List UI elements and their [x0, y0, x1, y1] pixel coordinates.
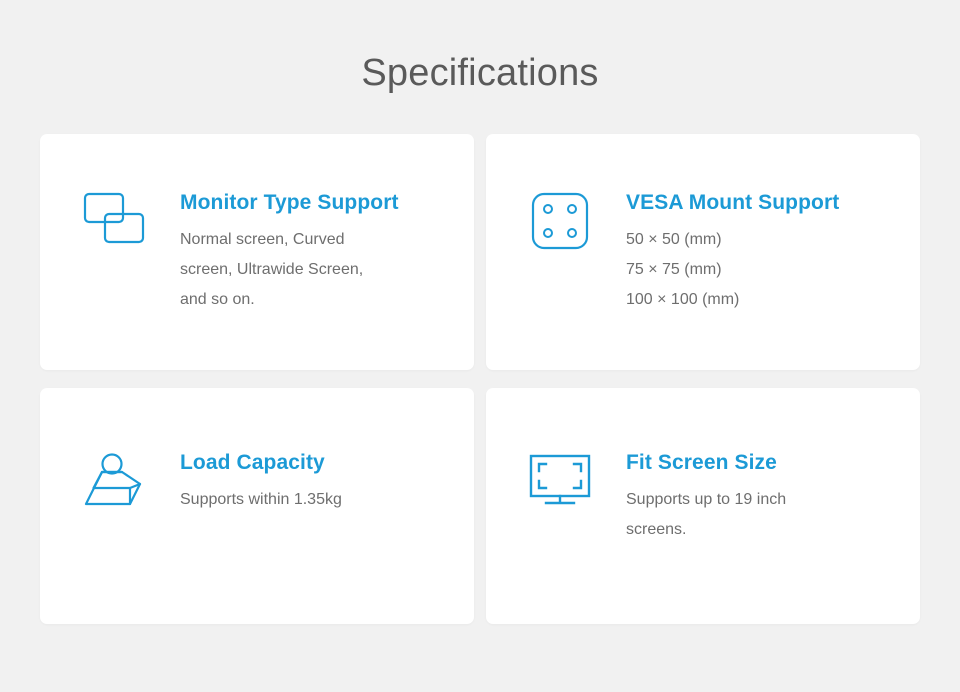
card-description: Normal screen, Curved screen, Ultrawide … — [180, 225, 450, 315]
card-body: Load Capacity Supports within 1.35kg — [180, 450, 450, 515]
card-heading: Load Capacity — [180, 450, 450, 476]
description-line: screen, Ultrawide Screen, — [180, 255, 450, 285]
spec-card-fit-screen-size: Fit Screen Size Supports up to 19 inch s… — [486, 388, 920, 624]
description-line: 50 × 50 (mm) — [626, 225, 896, 255]
card-description: Supports within 1.35kg — [180, 485, 450, 515]
card-body: Monitor Type Support Normal screen, Curv… — [180, 190, 450, 315]
card-heading: Fit Screen Size — [626, 450, 896, 476]
spec-card-vesa-mount-support: VESA Mount Support 50 × 50 (mm) 75 × 75 … — [486, 134, 920, 370]
description-line: Supports up to 19 inch — [626, 485, 896, 515]
monitor-screen-icon — [522, 450, 598, 506]
spec-card-load-capacity: Load Capacity Supports within 1.35kg — [40, 388, 474, 624]
weight-pyramid-icon — [76, 450, 152, 510]
card-body: Fit Screen Size Supports up to 19 inch s… — [626, 450, 896, 545]
description-line: Normal screen, Curved — [180, 225, 450, 255]
description-line: Supports within 1.35kg — [180, 485, 450, 515]
description-line: screens. — [626, 515, 896, 545]
specifications-page: Specifications Monitor Type Support Norm… — [0, 0, 960, 692]
card-heading: VESA Mount Support — [626, 190, 896, 216]
description-line: 75 × 75 (mm) — [626, 255, 896, 285]
spec-card-monitor-type-support: Monitor Type Support Normal screen, Curv… — [40, 134, 474, 370]
card-heading: Monitor Type Support — [180, 190, 450, 216]
vesa-plate-icon — [522, 190, 598, 250]
overlapping-screens-icon — [76, 190, 152, 248]
card-description: 50 × 50 (mm) 75 × 75 (mm) 100 × 100 (mm) — [626, 225, 896, 315]
page-title: Specifications — [0, 51, 960, 97]
card-body: VESA Mount Support 50 × 50 (mm) 75 × 75 … — [626, 190, 896, 315]
description-line: 100 × 100 (mm) — [626, 285, 896, 315]
description-line: and so on. — [180, 285, 450, 315]
specifications-card-grid: Monitor Type Support Normal screen, Curv… — [40, 134, 920, 624]
card-description: Supports up to 19 inch screens. — [626, 485, 896, 545]
